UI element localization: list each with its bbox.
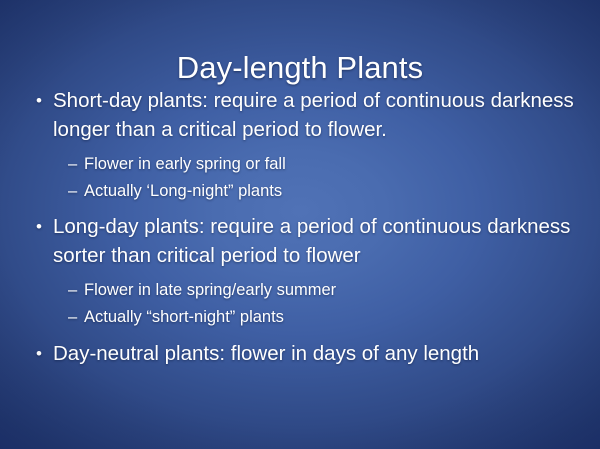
presentation-slide: Day-length Plants • Short-day plants: re… — [0, 0, 600, 449]
sub-bullet-text: Flower in early spring or fall — [84, 151, 574, 177]
bullet-item-short-day-plants: • Short-day plants: require a period of … — [30, 86, 574, 144]
sub-bullet-item-long-night-plants: – Actually ‘Long-night” plants — [30, 178, 574, 204]
bullet-text: Short-day plants: require a period of co… — [53, 86, 574, 144]
bullet-dash-icon: – — [68, 178, 84, 204]
slide-body-content: • Short-day plants: require a period of … — [30, 86, 574, 369]
bullet-item-day-neutral-plants: • Day-neutral plants: flower in days of … — [30, 339, 574, 368]
bullet-item-long-day-plants: • Long-day plants: require a period of c… — [30, 212, 574, 270]
sub-bullet-text: Flower in late spring/early summer — [84, 277, 574, 303]
sub-bullet-item-flower-early-spring: – Flower in early spring or fall — [30, 151, 574, 177]
bullet-dash-icon: – — [68, 151, 84, 177]
bullet-text: Day-neutral plants: flower in days of an… — [53, 339, 574, 368]
bullet-text: Long-day plants: require a period of con… — [53, 212, 574, 270]
bullet-dot-icon: • — [36, 86, 53, 115]
sub-bullet-text: Actually “short-night” plants — [84, 304, 574, 330]
slide-title: Day-length Plants — [0, 49, 600, 87]
bullet-dot-icon: • — [36, 339, 53, 368]
sub-bullet-item-flower-late-spring: – Flower in late spring/early summer — [30, 277, 574, 303]
sub-bullet-text: Actually ‘Long-night” plants — [84, 178, 574, 204]
bullet-dash-icon: – — [68, 304, 84, 330]
sub-bullet-item-short-night-plants: – Actually “short-night” plants — [30, 304, 574, 330]
spacer — [30, 331, 574, 339]
bullet-dash-icon: – — [68, 277, 84, 303]
bullet-dot-icon: • — [36, 212, 53, 241]
spacer — [30, 205, 574, 212]
